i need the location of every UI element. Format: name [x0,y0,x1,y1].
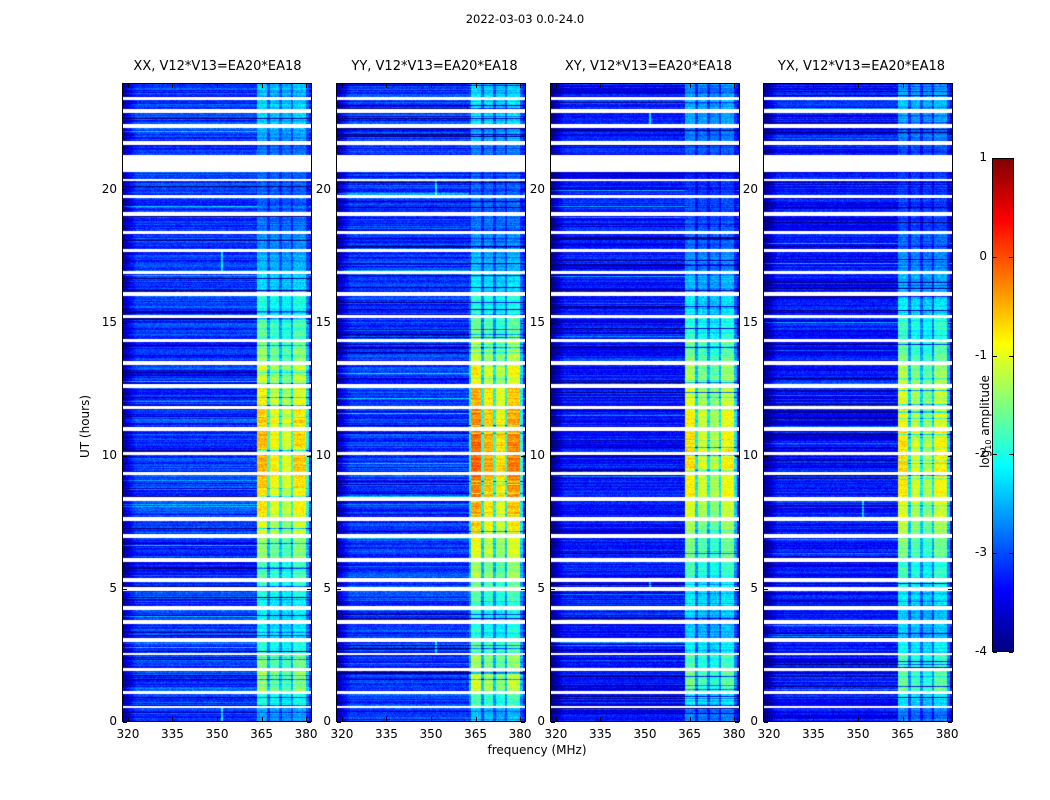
colorbar-tick-mark [1009,454,1013,455]
y-tick-mark [764,722,768,723]
y-tick-label: 0 [727,714,758,728]
y-tick-mark [948,456,952,457]
x-tick-mark [262,717,263,721]
x-tick-mark [556,84,557,88]
colorbar-tick-label: 1 [958,150,987,164]
y-tick-mark [764,456,768,457]
x-tick-mark [556,717,557,721]
y-tick-mark [551,189,555,190]
y-tick-mark [123,456,127,457]
x-tick-mark [903,717,904,721]
y-tick-mark [764,589,768,590]
y-tick-label: 20 [300,182,331,196]
waterfall-panel-xx[interactable] [122,83,312,722]
x-tick-label: 335 [580,727,620,741]
x-tick-label: 350 [625,727,665,741]
x-tick-mark [813,84,814,88]
x-tick-mark [431,717,432,721]
y-tick-mark [764,323,768,324]
x-tick-label: 380 [286,727,326,741]
x-axis-label: frequency (MHz) [387,743,687,757]
y-tick-label: 15 [514,315,545,329]
y-tick-label: 10 [514,448,545,462]
colorbar-tick-label: -3 [958,545,987,559]
x-tick-mark [306,84,307,88]
x-tick-mark [342,84,343,88]
y-tick-mark [551,323,555,324]
x-tick-label: 350 [411,727,451,741]
x-tick-mark [690,84,691,88]
x-tick-mark [172,84,173,88]
colorbar-tick-mark [1009,257,1013,258]
y-tick-label: 10 [86,448,117,462]
y-tick-mark [337,456,341,457]
x-tick-mark [769,84,770,88]
colorbar-tick-label: -1 [958,348,987,362]
colorbar-tick-mark [993,356,997,357]
y-tick-mark [764,189,768,190]
colorbar-tick-label: 0 [958,249,987,263]
waterfall-image-yx [764,84,953,722]
panel-title-xy: XY, V12*V13=EA20*EA18 [541,59,756,77]
colorbar-tick-mark [993,553,997,554]
waterfall-image-xx [123,84,312,722]
x-tick-label: 365 [883,727,923,741]
y-tick-label: 10 [300,448,331,462]
y-tick-label: 20 [86,182,117,196]
x-tick-mark [520,84,521,88]
colorbar-tick-mark [1009,158,1013,159]
figure-suptitle: 2022-03-03 0.0-24.0 [0,12,1050,26]
y-tick-label: 20 [514,182,545,196]
x-tick-label: 365 [670,727,710,741]
panel-title-yx: YX, V12*V13=EA20*EA18 [754,59,969,77]
y-tick-mark [551,456,555,457]
x-tick-label: 335 [366,727,406,741]
colorbar-tick-label: -2 [958,446,987,460]
x-tick-mark [645,84,646,88]
panel-title-xx: XX, V12*V13=EA20*EA18 [110,59,325,77]
x-tick-mark [128,84,129,88]
waterfall-image-xy [551,84,740,722]
y-tick-mark [551,589,555,590]
y-tick-label: 0 [300,714,331,728]
x-tick-mark [128,717,129,721]
x-tick-label: 380 [927,727,967,741]
x-tick-label: 350 [838,727,878,741]
x-tick-mark [600,717,601,721]
panel-title-yy: YY, V12*V13=EA20*EA18 [327,59,542,77]
x-tick-label: 335 [793,727,833,741]
y-tick-mark [337,189,341,190]
colorbar-tick-mark [993,652,997,653]
x-tick-mark [262,84,263,88]
x-tick-mark [386,717,387,721]
x-tick-mark [600,84,601,88]
figure-canvas: 2022-03-03 0.0-24.0 XX, V12*V13=EA20*EA1… [0,0,1050,800]
colorbar-tick-mark [993,454,997,455]
y-tick-mark [948,189,952,190]
x-tick-label: 320 [322,727,362,741]
y-tick-mark [337,722,341,723]
x-tick-mark [858,717,859,721]
x-tick-mark [813,717,814,721]
x-tick-label: 365 [242,727,282,741]
x-tick-label: 320 [108,727,148,741]
colorbar-tick-mark [993,158,997,159]
x-tick-label: 320 [536,727,576,741]
x-tick-mark [645,717,646,721]
y-tick-label: 0 [86,714,117,728]
y-tick-mark [948,722,952,723]
x-tick-mark [217,717,218,721]
x-tick-label: 380 [500,727,540,741]
y-tick-mark [948,589,952,590]
y-tick-label: 15 [300,315,331,329]
colorbar-tick-label: -4 [958,644,987,658]
colorbar-tick-mark [993,257,997,258]
waterfall-panel-yy[interactable] [336,83,526,722]
x-tick-mark [734,84,735,88]
y-tick-mark [123,323,127,324]
colorbar-gradient [993,159,1013,651]
y-tick-label: 5 [514,581,545,595]
colorbar-tick-mark [1009,652,1013,653]
y-tick-label: 5 [300,581,331,595]
y-tick-label: 0 [514,714,545,728]
y-tick-mark [123,189,127,190]
x-tick-mark [431,84,432,88]
colorbar-tick-mark [1009,356,1013,357]
x-tick-mark [172,717,173,721]
colorbar-tick-mark [1009,553,1013,554]
y-tick-label: 10 [727,448,758,462]
x-tick-label: 350 [197,727,237,741]
waterfall-image-yy [337,84,526,722]
x-tick-mark [342,717,343,721]
x-tick-label: 335 [152,727,192,741]
x-tick-mark [386,84,387,88]
x-tick-label: 365 [456,727,496,741]
y-tick-label: 5 [727,581,758,595]
colorbar[interactable] [992,158,1014,652]
y-tick-label: 20 [727,182,758,196]
y-tick-mark [123,722,127,723]
x-tick-mark [947,717,948,721]
x-tick-mark [903,84,904,88]
x-tick-label: 320 [749,727,789,741]
y-tick-label: 15 [727,315,758,329]
y-tick-mark [337,323,341,324]
x-tick-mark [690,717,691,721]
y-tick-label: 15 [86,315,117,329]
x-tick-mark [858,84,859,88]
waterfall-panel-yx[interactable] [763,83,953,722]
x-tick-mark [769,717,770,721]
waterfall-panel-xy[interactable] [550,83,740,722]
y-tick-label: 5 [86,581,117,595]
y-tick-mark [123,589,127,590]
x-tick-mark [217,84,218,88]
y-tick-mark [551,722,555,723]
x-tick-mark [476,84,477,88]
x-tick-mark [476,717,477,721]
y-tick-mark [337,589,341,590]
x-tick-mark [947,84,948,88]
y-tick-mark [948,323,952,324]
